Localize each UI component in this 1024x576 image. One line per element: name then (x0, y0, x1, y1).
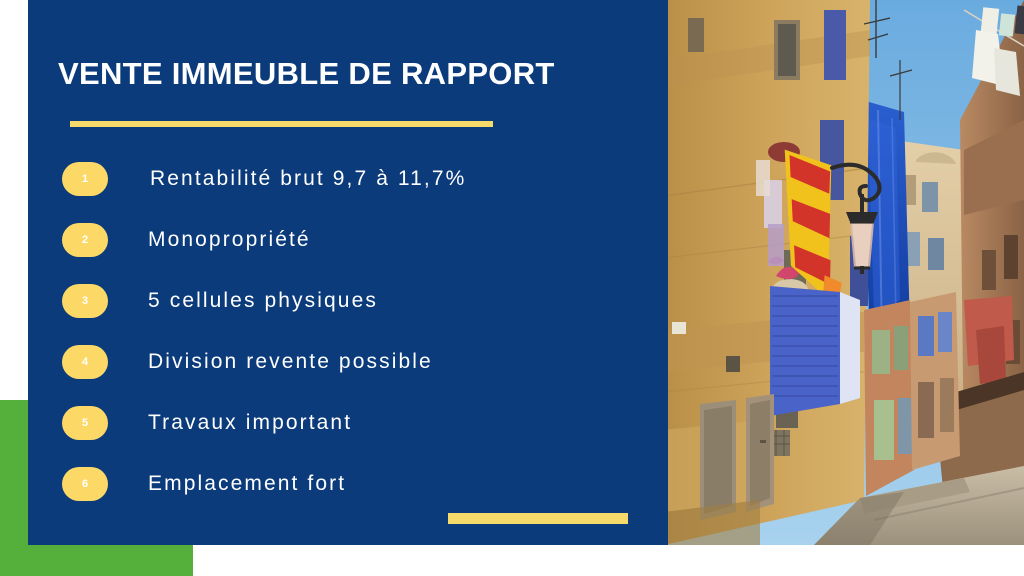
list-item-number: 2 (82, 235, 88, 246)
page-title: VENTE IMMEUBLE DE RAPPORT (58, 56, 555, 92)
list-item: 4 Division revente possible (28, 338, 668, 399)
list-item-badge: 2 (62, 223, 108, 257)
list-item-badge: 3 (62, 284, 108, 318)
feature-list: 1 Rentabilité brut 9,7 à 11,7% 2 Monopro… (28, 155, 668, 521)
list-item-number: 3 (82, 296, 88, 307)
list-item-number: 4 (82, 357, 88, 368)
list-item-label: 5 cellules physiques (148, 277, 378, 325)
list-item: 2 Monopropriété (28, 216, 668, 277)
list-item: 3 5 cellules physiques (28, 277, 668, 338)
list-item-label: Travaux important (148, 399, 352, 447)
list-item: 1 Rentabilité brut 9,7 à 11,7% (28, 155, 668, 216)
list-item-badge: 4 (62, 345, 108, 379)
list-item-number: 1 (82, 174, 88, 185)
list-item-badge: 1 (62, 162, 108, 196)
list-item-number: 6 (82, 479, 88, 490)
list-item-badge: 5 (62, 406, 108, 440)
green-accent-foot (0, 545, 193, 576)
list-item-number: 5 (82, 418, 88, 429)
content-panel: VENTE IMMEUBLE DE RAPPORT 1 Rentabilité … (28, 0, 668, 545)
slide: VENTE IMMEUBLE DE RAPPORT 1 Rentabilité … (0, 0, 1024, 576)
list-item-label: Division revente possible (148, 338, 433, 386)
list-item-label: Rentabilité brut 9,7 à 11,7% (150, 155, 466, 203)
list-item-label: Emplacement fort (148, 460, 346, 508)
bottom-accent-bar (448, 513, 628, 524)
street-photo (664, 0, 1024, 545)
list-item: 6 Emplacement fort (28, 460, 668, 521)
list-item: 5 Travaux important (28, 399, 668, 460)
list-item-badge: 6 (62, 467, 108, 501)
title-underline (70, 121, 493, 127)
list-item-label: Monopropriété (148, 216, 311, 264)
